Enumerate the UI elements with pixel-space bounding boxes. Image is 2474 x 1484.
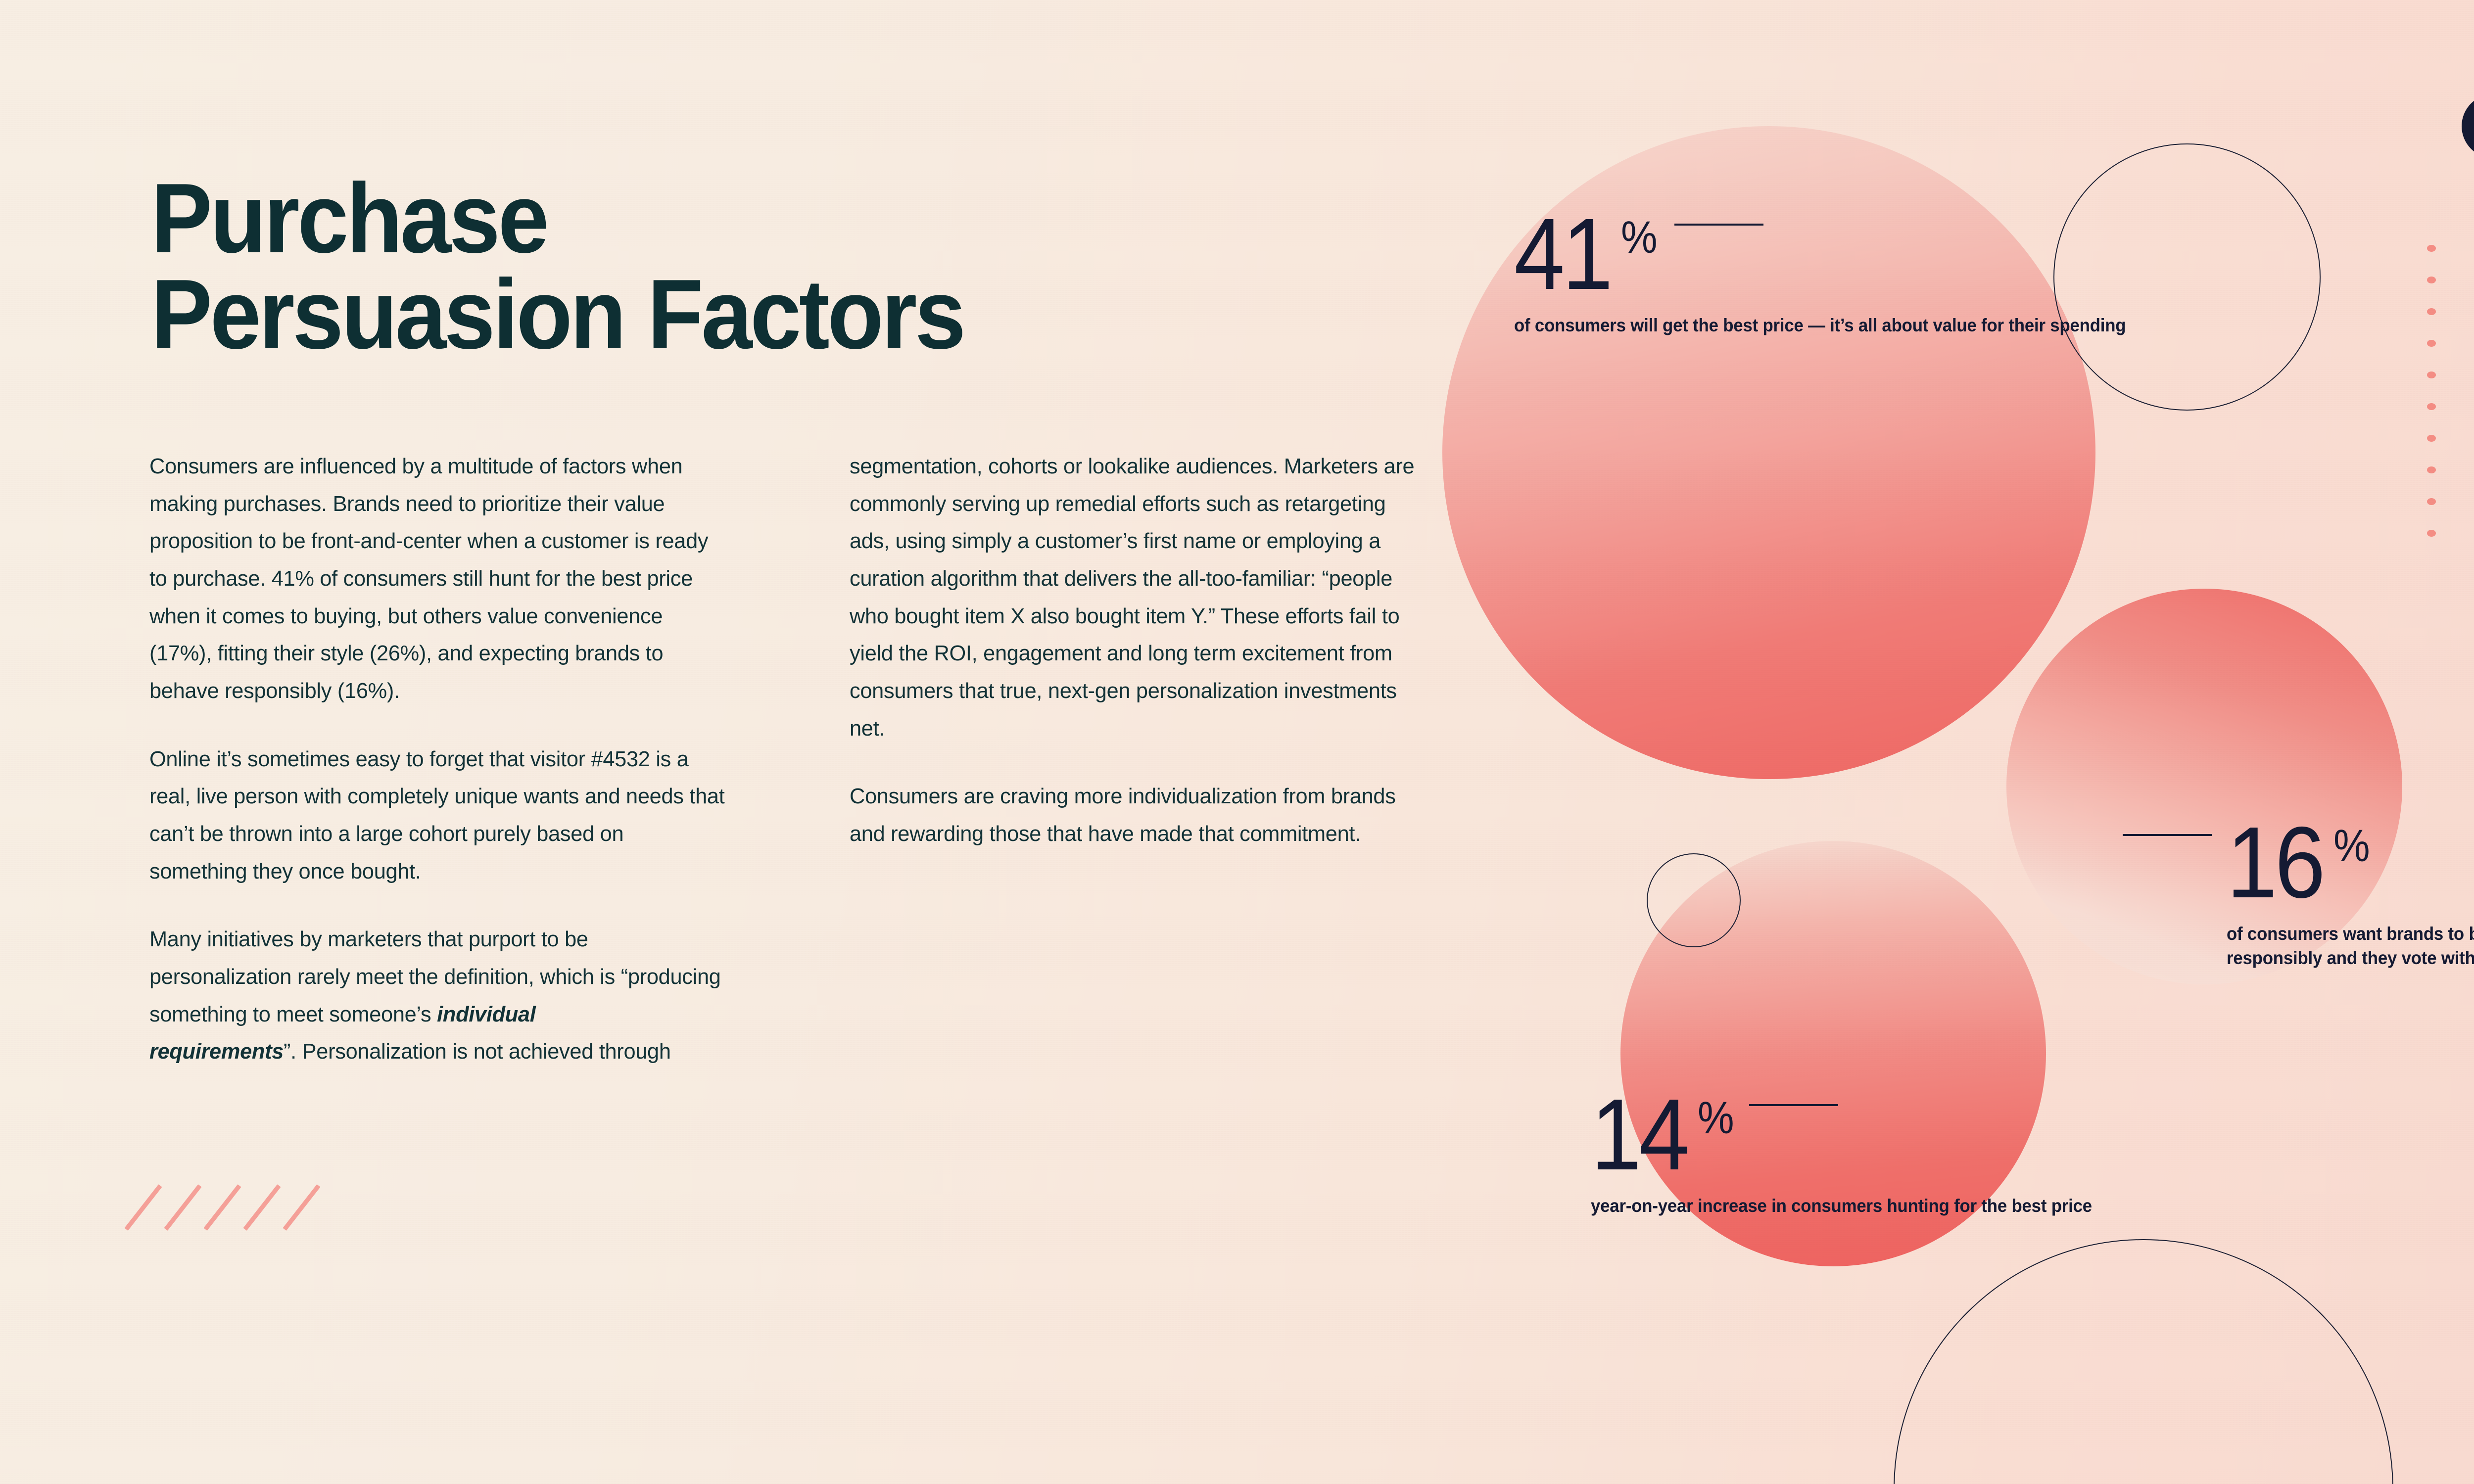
stat-caption: of consumers want brands to behave respo… [2227,922,2474,971]
page-title-line-1: Purchase [151,163,547,274]
paragraph: Consumers are influenced by a multitude … [149,448,727,710]
outline-circle-bottom [1894,1239,2393,1484]
diagonal-slashes-decoration [141,1180,329,1244]
page-title: Purchase Persuasion Factors [151,171,1209,363]
stat-rule [1674,224,1763,226]
stat-caption: of consumers will get the best price — i… [1514,314,2126,338]
paragraph: segmentation, cohorts or lookalike audie… [850,448,1427,747]
paragraph-part-a: Many initiatives by marketers that purpo… [149,927,721,1026]
stat-percent-sign: % [1621,215,1657,260]
stat-percent-sign: % [1698,1095,1733,1141]
brand-logo-badge[interactable] [2462,94,2474,158]
stat-caption: year-on-year increase in consumers hunti… [1591,1194,2092,1218]
stat-block-14: 14 % year-on-year increase in consumers … [1591,1093,2124,1218]
stat-block-16: 16 % of consumers want brands to behave … [2227,821,2474,971]
stat-number-row: 16 % [2227,821,2474,904]
emphasis-requirements: requirements [149,1039,284,1064]
body-column-right: segmentation, cohorts or lookalike audie… [850,448,1436,1070]
body-copy: Consumers are influenced by a multitude … [149,448,1436,1070]
dot-grid-pattern [2427,245,2474,561]
paragraph-with-emphasis: Many initiatives by marketers that purpo… [149,921,727,1070]
stat-rule [2123,834,2212,836]
paragraph-part-b: ”. Personalization is not achieved throu… [284,1039,671,1064]
body-column-left: Consumers are influenced by a multitude … [149,448,736,1070]
emphasis-individual: individual [437,1002,535,1026]
paragraph: Consumers are craving more individualiza… [850,778,1427,852]
stat-block-41: 41 % of consumers will get the best pric… [1514,213,2165,338]
page-title-line-2: Persuasion Factors [151,259,964,370]
stat-value: 14 [1591,1093,1687,1176]
stat-value: 41 [1514,213,1610,296]
stat-number-row: 14 % [1591,1093,2124,1176]
stat-rule [1749,1104,1838,1106]
stat-number-row: 41 % [1514,213,2165,296]
stat-value: 16 [2227,821,2323,904]
paragraph: Online it’s sometimes easy to forget tha… [149,741,727,890]
outline-circle-small [1647,853,1741,947]
stat-percent-sign: % [2333,823,2369,869]
slide-canvas: Purchase Persuasion Factors Consumers ar… [0,0,2474,1484]
